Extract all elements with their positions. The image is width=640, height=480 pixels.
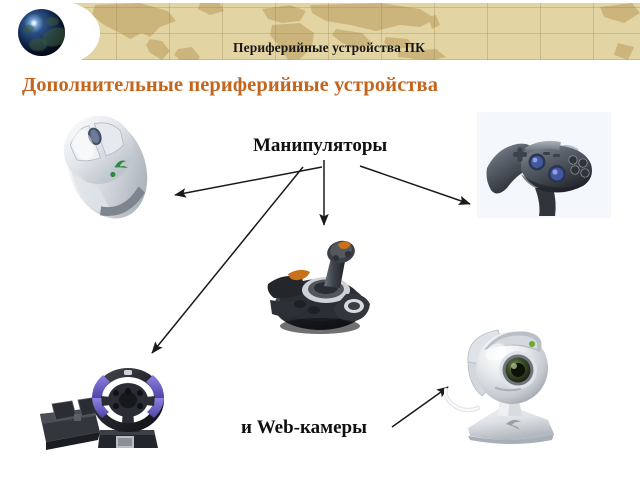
label-webcams: и Web-камеры <box>241 417 367 439</box>
banner-title: Периферийные устройства ПК <box>0 40 640 55</box>
arrow-to-gamepad <box>360 166 470 204</box>
arrow-to-mouse <box>175 167 322 195</box>
computer-mouse-image <box>42 104 172 230</box>
label-manipulators: Манипуляторы <box>253 135 387 157</box>
header-banner: Периферийные устройства ПК <box>0 0 640 62</box>
arrow-to-webcam <box>392 387 448 427</box>
joystick-image <box>262 228 386 336</box>
web-camera-image <box>444 322 570 448</box>
wireless-gamepad-image <box>477 112 611 218</box>
page-title: Дополнительные периферийные устройства <box>22 74 438 97</box>
racing-wheel-image <box>22 358 170 462</box>
